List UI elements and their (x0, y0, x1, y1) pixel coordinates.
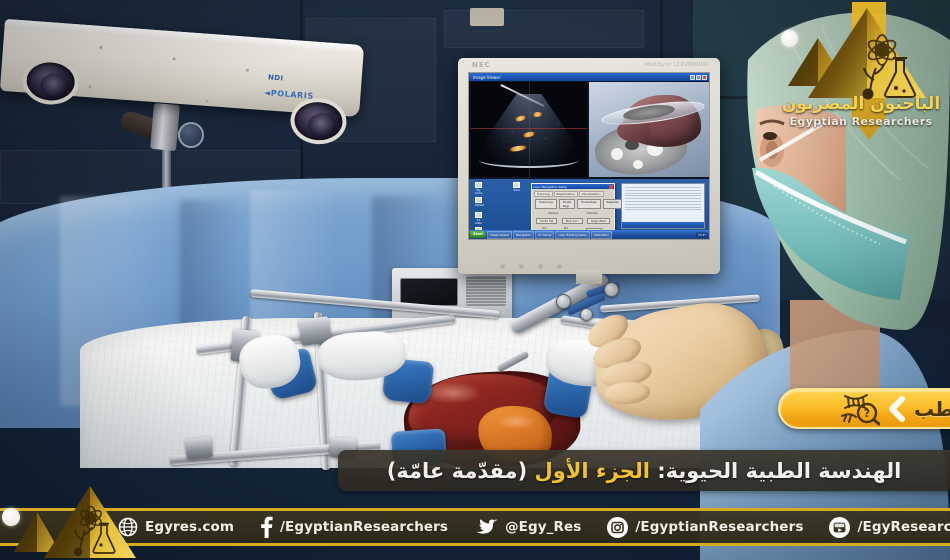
svg-text:?: ? (864, 407, 870, 420)
footer-link-facebook[interactable]: /EgyptianResearchers (260, 516, 448, 538)
footer-science-icons (0, 470, 126, 560)
footer-label-twitter: @Egy_Res (505, 519, 581, 535)
dna-magnifier-icon: ? (840, 392, 880, 426)
footer-link-twitter[interactable]: @Egy_Res (474, 517, 581, 537)
footer-seed-icon (74, 548, 82, 556)
category-badge[interactable]: طب ? (778, 388, 950, 429)
footer-link-website[interactable]: Egyres.com (118, 517, 234, 537)
twitter-icon (474, 517, 498, 537)
social-footer-bar: Egyres.com /EgyptianResearchers @Egy_Res (0, 508, 950, 546)
footer-label-youtube: /EgyResearchers (857, 519, 950, 535)
footer-link-instagram[interactable]: /EgyptianResearchers (607, 517, 803, 538)
eye (763, 132, 777, 140)
instagram-icon (607, 517, 628, 538)
promo-graphic: NDI ◄POLARIS (0, 0, 950, 560)
chevron-left-icon (886, 396, 908, 422)
logo-english-text: Egyptian Researchers (778, 115, 944, 128)
title-tail: (مقدّمة عامّة) (387, 459, 527, 483)
category-label: طب (914, 397, 950, 421)
title-accent: الجزء الأول (534, 459, 649, 483)
footer-link-youtube[interactable]: /EgyResearchers (829, 517, 950, 538)
title-lead: الهندسة الطبية الحيوية: (657, 459, 901, 483)
footer-pyramid-logo (0, 470, 126, 560)
footer-label-instagram: /EgyptianResearchers (635, 519, 803, 535)
sun-icon (781, 30, 798, 47)
brand-logo: الباحثون المصريون Egyptian Researchers (778, 2, 946, 154)
facebook-icon (260, 516, 273, 538)
footer-label-facebook: /EgyptianResearchers (280, 519, 448, 535)
title-bar: الهندسة الطبية الحيوية: الجزء الأول (مقد… (338, 450, 950, 491)
footer-plant-icon (75, 527, 92, 550)
page-title: الهندسة الطبية الحيوية: الجزء الأول (مقد… (387, 459, 902, 483)
youtube-icon (829, 517, 850, 538)
footer-label-website: Egyres.com (145, 519, 234, 535)
logo-arabic-text: الباحثون المصريون (778, 94, 944, 114)
footer-flask-icon (93, 524, 114, 554)
footer-atom-icon (79, 507, 104, 530)
